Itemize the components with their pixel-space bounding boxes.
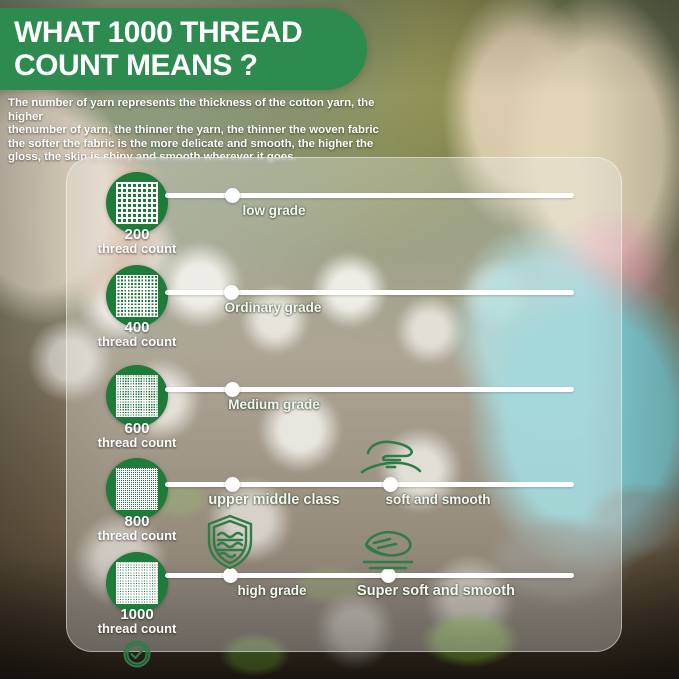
grade-label: soft and smooth <box>386 492 491 507</box>
thread-count-number: 200 <box>77 228 197 242</box>
thread-count-caption-400: 400thread count <box>77 321 197 349</box>
grade-marker-dot[interactable] <box>225 382 240 397</box>
feather-softness-icon <box>356 527 420 577</box>
grade-label: Ordinary grade <box>225 300 322 315</box>
thread-count-unit: thread count <box>77 242 197 256</box>
grade-label: upper middle class <box>208 492 339 508</box>
thread-count-unit: thread count <box>77 529 197 543</box>
thread-count-unit: thread count <box>77 436 197 450</box>
intro-line-3: the softer the fabric is the more delica… <box>8 138 408 152</box>
grade-marker-dot[interactable] <box>225 188 240 203</box>
thread-count-caption-600: 600thread count <box>77 422 197 450</box>
thread-count-unit: thread count <box>77 622 197 636</box>
thread-count-disc-800 <box>106 458 168 520</box>
page-title: WHAT 1000 THREAD COUNT MEANS ? <box>14 16 302 82</box>
weave-mesh-icon <box>116 562 158 604</box>
weave-mesh-icon <box>116 182 158 224</box>
grade-marker-dot[interactable] <box>225 477 240 492</box>
thread-count-unit: thread count <box>77 335 197 349</box>
weave-mesh-icon <box>116 275 158 317</box>
intro-line-1: The number of yarn represents the thickn… <box>8 97 408 124</box>
thread-count-caption-1000: 1000thread count <box>77 608 197 636</box>
grade-label: low grade <box>242 203 305 218</box>
intro-line-2: thenumber of yarn, the thinner the yarn,… <box>8 124 408 138</box>
grade-label: Super soft and smooth <box>357 583 515 599</box>
grade-marker-dot[interactable] <box>224 285 239 300</box>
thread-count-number: 400 <box>77 321 197 335</box>
thread-count-number: 1000 <box>77 608 197 622</box>
thread-count-caption-800: 800thread count <box>77 515 197 543</box>
header-banner: WHAT 1000 THREAD COUNT MEANS ? <box>0 8 367 90</box>
hand-stroking-fabric-icon <box>354 436 426 480</box>
weave-mesh-icon <box>116 468 158 510</box>
page-title-line1: WHAT 1000 THREAD <box>14 16 302 49</box>
grade-label: Medium grade <box>228 397 320 412</box>
thread-count-number: 800 <box>77 515 197 529</box>
page-title-line2: COUNT MEANS ? <box>14 49 302 82</box>
thread-count-disc-400 <box>106 265 168 327</box>
thread-count-number: 600 <box>77 422 197 436</box>
intro-paragraph: The number of yarn represents the thickn… <box>8 97 408 165</box>
thread-count-disc-1000 <box>106 552 168 614</box>
thread-count-disc-600 <box>106 365 168 427</box>
thread-count-disc-200 <box>106 172 168 234</box>
check-circle-icon <box>122 639 152 674</box>
infographic-canvas: WHAT 1000 THREAD COUNT MEANS ? The numbe… <box>0 0 679 679</box>
grade-label: high grade <box>237 583 306 598</box>
weave-mesh-icon <box>116 375 158 417</box>
thread-count-caption-200: 200thread count <box>77 228 197 256</box>
shield-waves-icon <box>204 513 256 571</box>
